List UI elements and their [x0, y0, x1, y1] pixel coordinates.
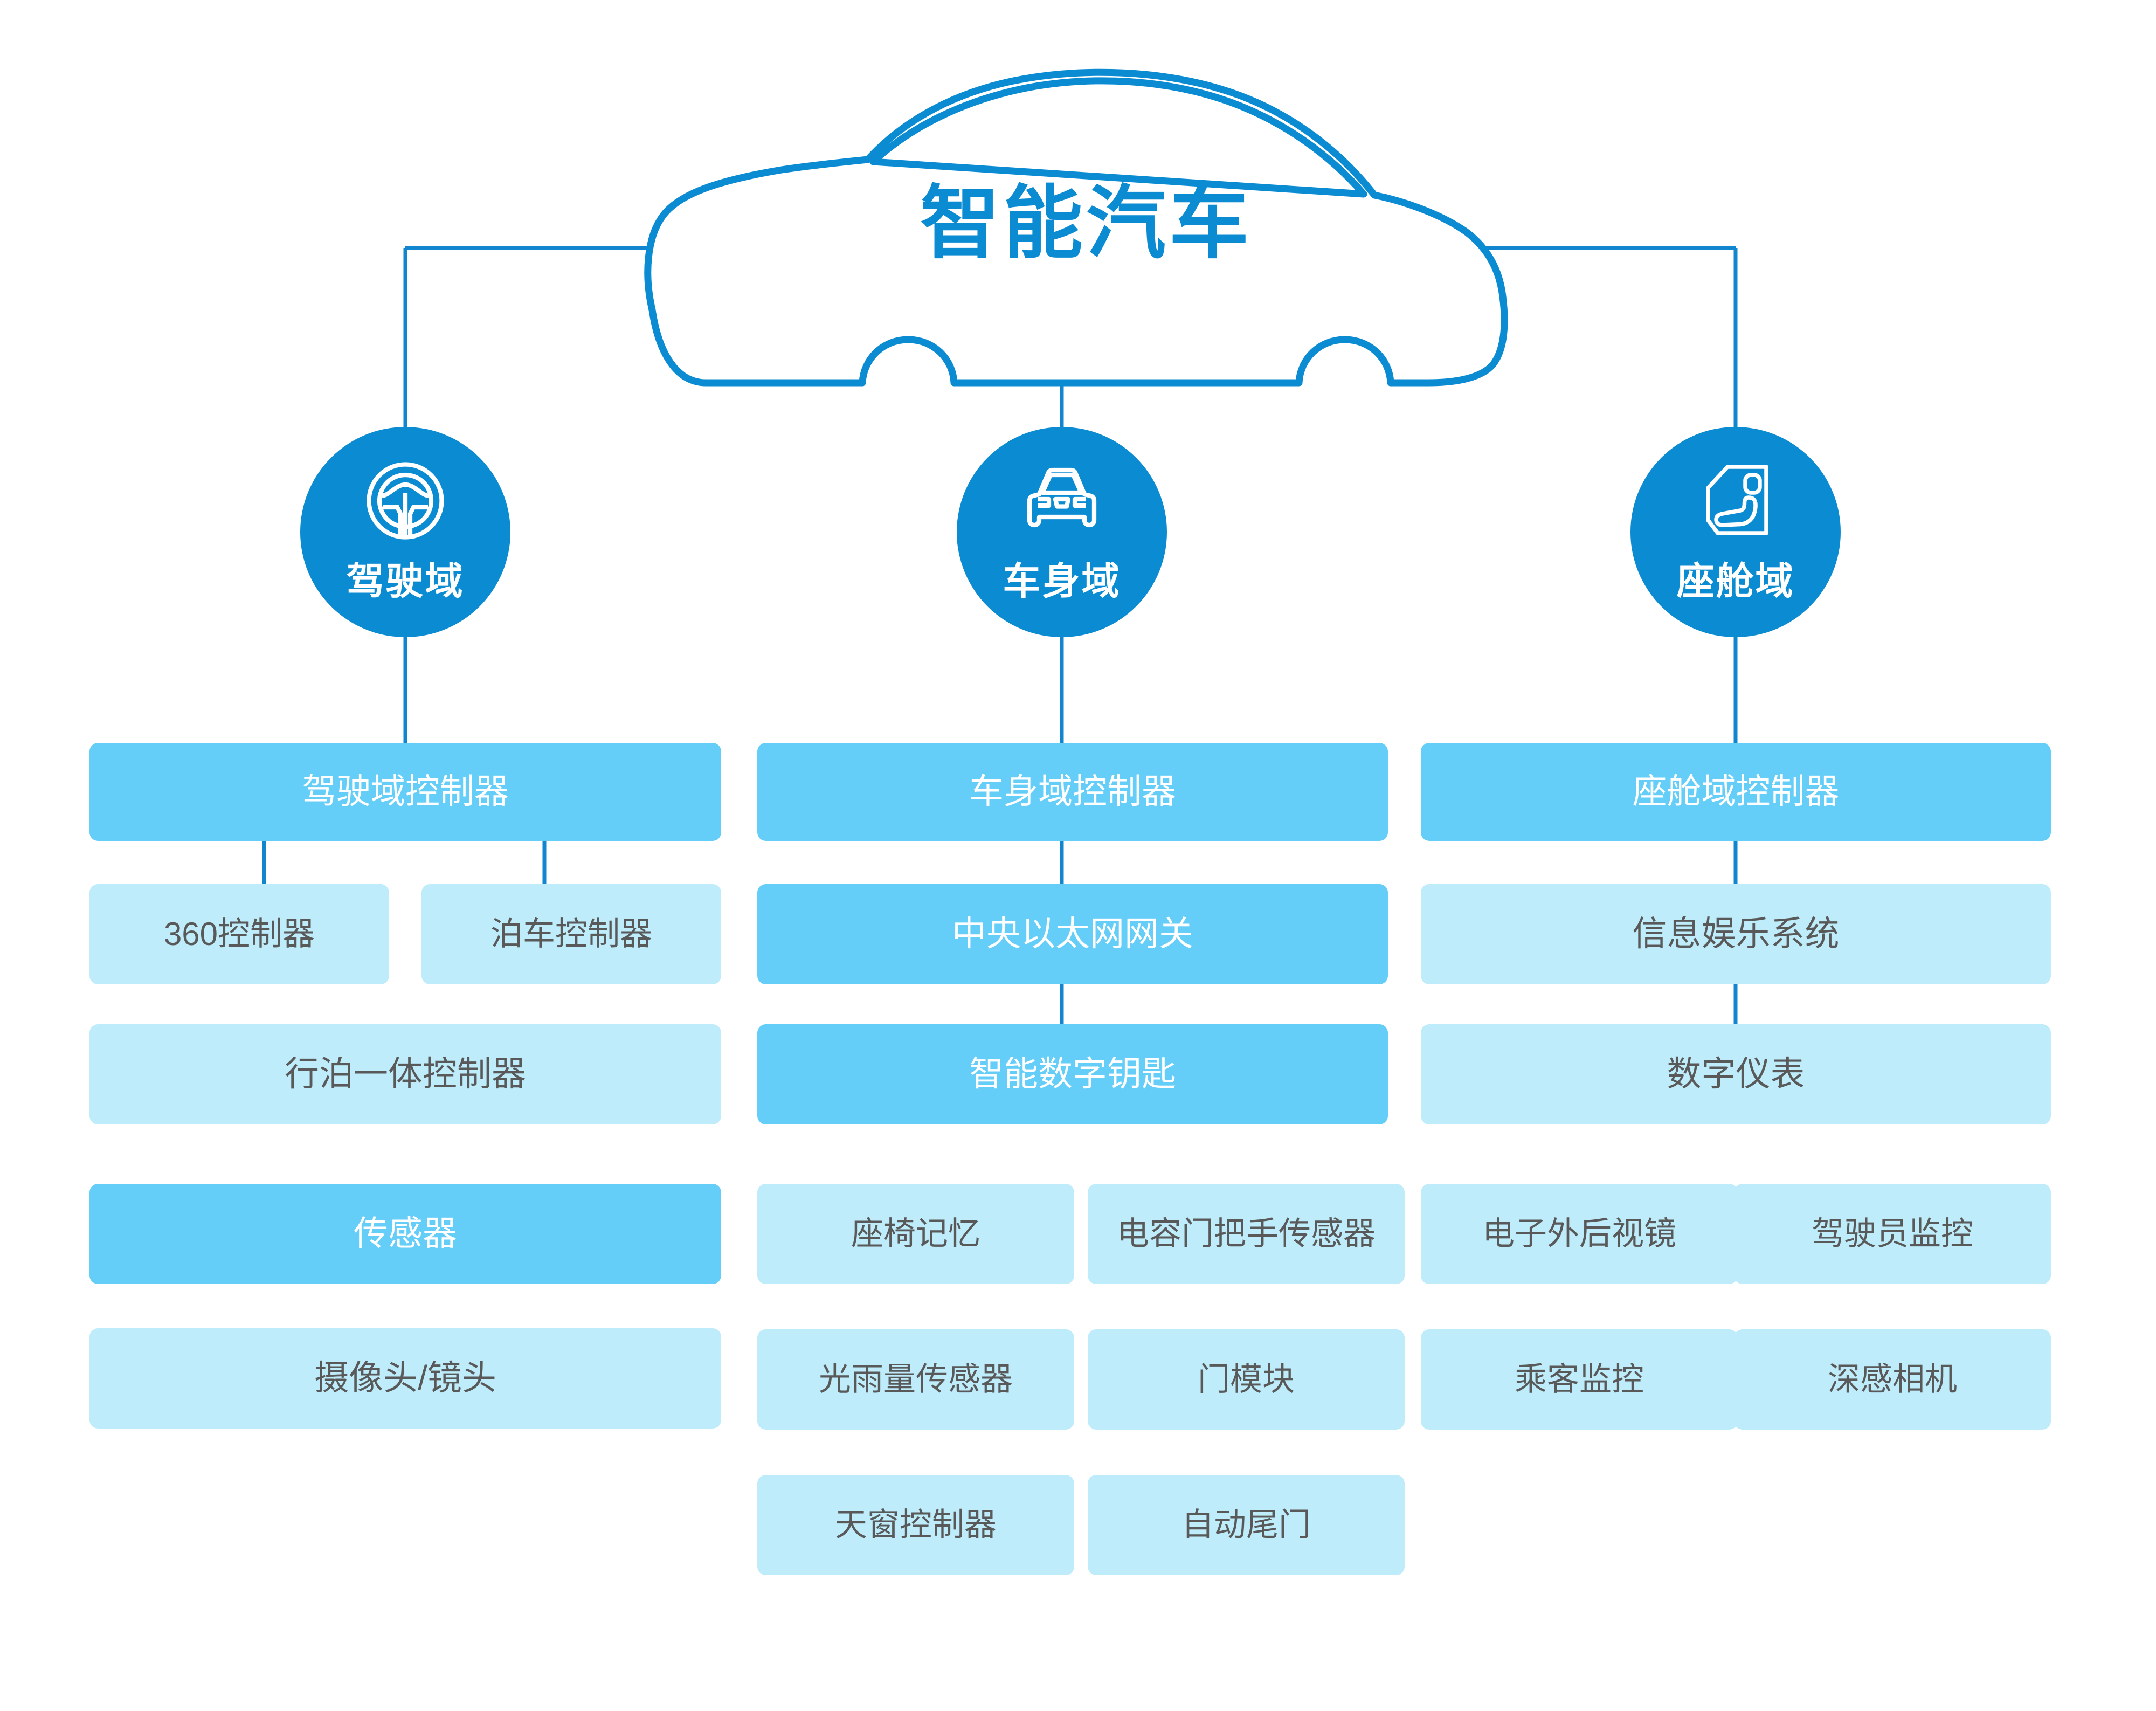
box-camera-lens[interactable]: 摄像头/镜头 — [89, 1328, 721, 1429]
box-central-ethernet-gateway[interactable]: 中央以太网网关 — [757, 884, 1388, 984]
domain-node-driving[interactable]: 驾驶域 — [300, 427, 510, 637]
box-capacitive-door-handle-sensor[interactable]: 电容门把手传感器 — [1088, 1184, 1405, 1284]
box-light-rain-sensor[interactable]: 光雨量传感器 — [757, 1329, 1074, 1430]
box-depth-camera[interactable]: 深感相机 — [1734, 1329, 2051, 1430]
box-passenger-monitoring[interactable]: 乘客监控 — [1421, 1329, 1738, 1430]
box-cockpit-controller[interactable]: 座舱域控制器 — [1421, 743, 2051, 841]
box-smart-digital-key[interactable]: 智能数字钥匙 — [757, 1024, 1388, 1124]
box-driving-controller[interactable]: 驾驶域控制器 — [89, 743, 721, 841]
page-title: 智能汽车 — [620, 59, 1536, 394]
box-360-controller[interactable]: 360控制器 — [89, 884, 389, 984]
diagram-canvas: 智能汽车 驾驶域 车身域 — [0, 0, 2156, 1711]
domain-node-body[interactable]: 车身域 — [957, 427, 1167, 637]
box-electronic-exterior-mirror[interactable]: 电子外后视镜 — [1421, 1184, 1738, 1284]
box-sensor-group-header[interactable]: 传感器 — [89, 1184, 721, 1284]
domain-label-body: 车身域 — [1003, 551, 1121, 605]
box-door-module[interactable]: 门模块 — [1088, 1329, 1405, 1430]
box-parking-controller[interactable]: 泊车控制器 — [421, 884, 721, 984]
box-driver-monitoring[interactable]: 驾驶员监控 — [1734, 1184, 2051, 1284]
box-seat-memory[interactable]: 座椅记忆 — [757, 1184, 1074, 1284]
car-seat-icon — [1695, 460, 1776, 541]
box-infotainment-system[interactable]: 信息娱乐系统 — [1421, 884, 2051, 984]
box-power-tailgate[interactable]: 自动尾门 — [1088, 1475, 1405, 1575]
domain-label-driving: 驾驶域 — [347, 551, 465, 605]
box-body-controller[interactable]: 车身域控制器 — [757, 743, 1388, 841]
steering-wheel-icon — [365, 460, 446, 541]
car-front-icon — [1021, 460, 1102, 541]
box-digital-instrument-cluster[interactable]: 数字仪表 — [1421, 1024, 2051, 1124]
box-sunroof-controller[interactable]: 天窗控制器 — [757, 1475, 1074, 1575]
domain-label-cockpit: 座舱域 — [1677, 551, 1795, 605]
domain-node-cockpit[interactable]: 座舱域 — [1630, 427, 1841, 637]
box-integrated-driving-parking-controller[interactable]: 行泊一体控制器 — [89, 1024, 721, 1124]
